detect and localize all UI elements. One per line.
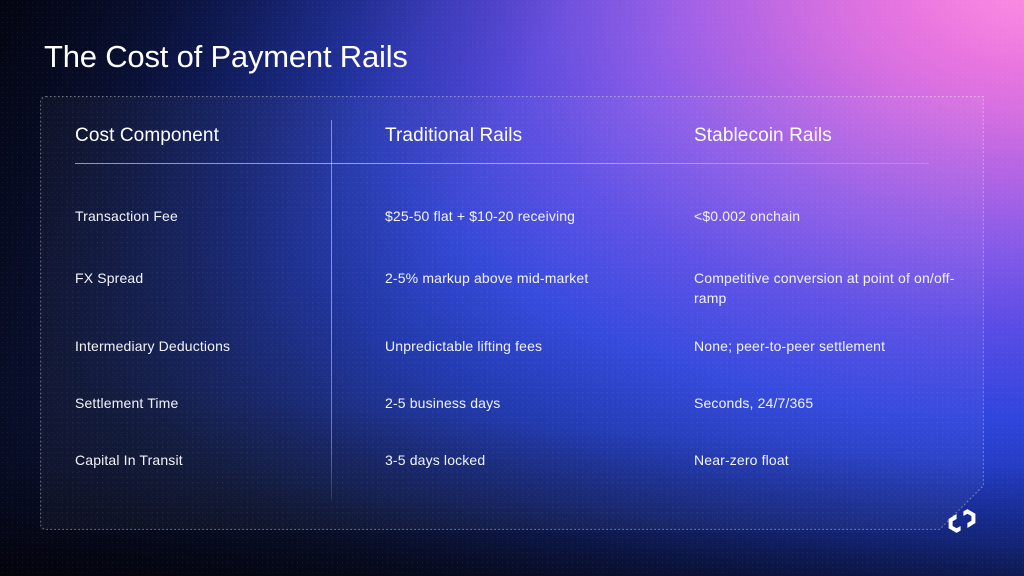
table-header-stablecoin-rails: Stablecoin Rails [694, 124, 962, 148]
slide-canvas: The Cost of Payment Rails Cost Component… [0, 0, 1024, 576]
table-row: None; peer-to-peer settlement [694, 336, 962, 356]
table-row: Competitive conversion at point of on/of… [694, 268, 962, 308]
table-row: Unpredictable lifting fees [385, 336, 685, 356]
table-row: Intermediary Deductions [75, 336, 333, 356]
table-row: Capital In Transit [75, 450, 333, 470]
table-row: $25-50 flat + $10-20 receiving [385, 206, 685, 226]
comparison-table: Cost Component Traditional Rails Stablec… [40, 96, 984, 530]
header-divider [75, 163, 929, 164]
page-title: The Cost of Payment Rails [44, 38, 408, 75]
table-row: 2-5 business days [385, 393, 685, 413]
column-divider [331, 120, 332, 500]
table-row: 3-5 days locked [385, 450, 685, 470]
table-row: Seconds, 24/7/365 [694, 393, 962, 413]
table-header-cost-component: Cost Component [75, 124, 333, 148]
table-row: FX Spread [75, 268, 333, 288]
table-row: <$0.002 onchain [694, 206, 962, 226]
table-header-traditional-rails: Traditional Rails [385, 124, 685, 148]
table-row: 2-5% markup above mid-market [385, 268, 685, 288]
table-row: Settlement Time [75, 393, 333, 413]
table-row: Transaction Fee [75, 206, 333, 226]
table-row: Near-zero float [694, 450, 962, 470]
polygon-logo [942, 501, 982, 541]
comparison-table-panel: Cost Component Traditional Rails Stablec… [40, 96, 984, 530]
